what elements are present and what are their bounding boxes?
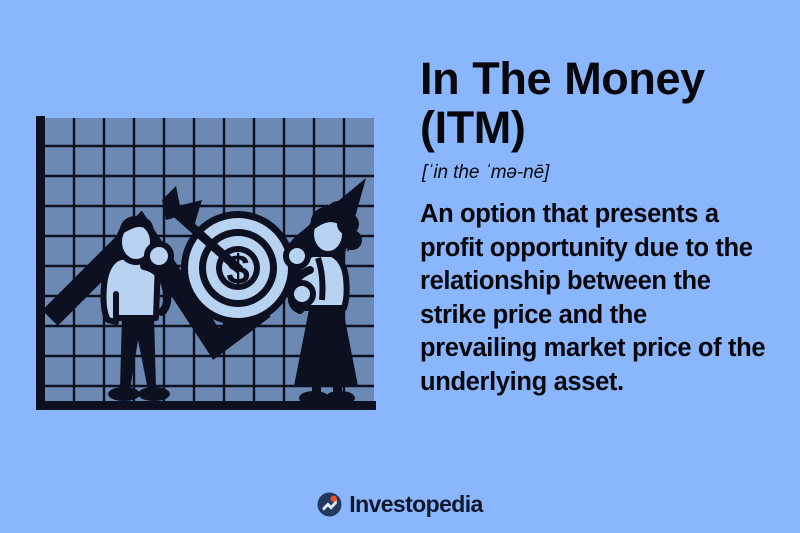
stock-chart-illustration: $ <box>26 108 394 428</box>
definition-card: $ <box>0 0 800 533</box>
investopedia-logo-icon <box>317 492 342 517</box>
investopedia-logo: Investopedia <box>0 492 800 517</box>
brand-wordmark: Investopedia <box>349 493 482 516</box>
page-title: In The Money (ITM) <box>420 54 778 152</box>
illustration-svg: $ <box>26 108 394 428</box>
pronunciation-text: [ˈin the ˈmə-nē] <box>422 162 778 184</box>
definition-text: An option that presents a profit opportu… <box>420 198 770 399</box>
text-column: In The Money (ITM) [ˈin the ˈmə-nē] An o… <box>420 54 778 399</box>
